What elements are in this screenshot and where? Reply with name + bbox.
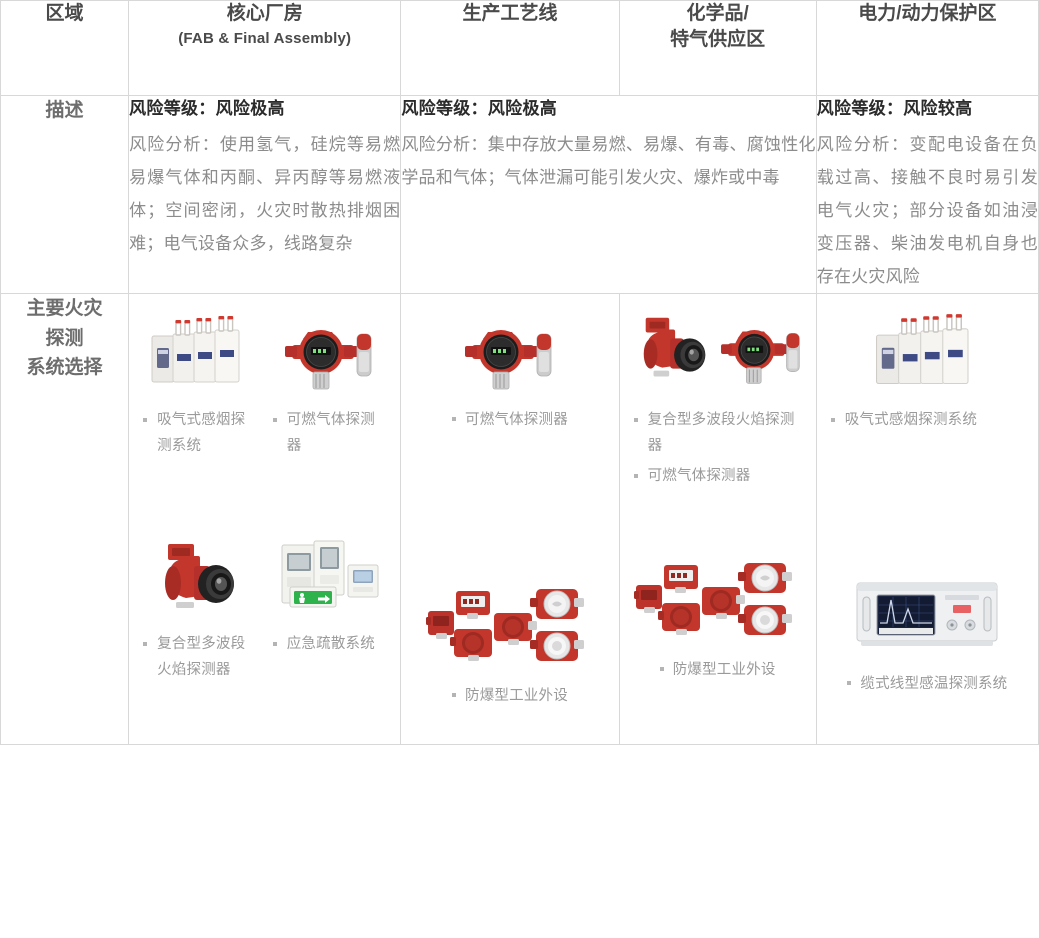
list-item: 可燃气体探测器: [271, 408, 389, 459]
aspirating-smoke-detection-icon: [141, 310, 259, 396]
row-label-description: 描述: [1, 96, 129, 294]
column-header-chemical-label-line1: 化学品/: [620, 1, 816, 27]
list-item: 复合型多波段火焰探测器: [141, 632, 259, 683]
aspirating-smoke-detection-icon: [829, 310, 1026, 396]
table-row-description: 描述 风险等级：风险极高 风险分析：使用氢气，硅烷等易燃易爆气体和丙酮、异丙醇等…: [1, 96, 1039, 294]
column-header-production-line-label: 生产工艺线: [462, 3, 557, 24]
column-header-core-fab: 核心厂房 (FAB & Final Assembly): [129, 1, 401, 96]
product-label-list: 防爆型工业外设: [632, 658, 804, 683]
risk-level-core: 风险等级：风险极高: [129, 96, 400, 122]
product-block-explosion-proof-line: 防爆型工业外设: [407, 568, 612, 714]
emergency-evacuation-system-icon: [271, 534, 389, 620]
table-body: 描述 风险等级：风险极高 风险分析：使用氢气，硅烷等易燃易爆气体和丙酮、异丙醇等…: [1, 96, 1039, 745]
column-header-area: 区域: [1, 1, 129, 96]
risk-level-line-chem: 风险等级：风险极高: [401, 96, 815, 122]
risk-analysis-power: 风险分析：变配电设备在负载过高、接触不良时易引发电气火灾；部分设备如油浸变压器、…: [817, 128, 1038, 294]
column-header-core-label: 核心厂房: [129, 1, 400, 27]
product-label-list: 防爆型工业外设: [413, 684, 606, 709]
product-label-list: 吸气式感烟探测系统: [829, 408, 1026, 433]
product-label-list: 复合型多波段火焰探测器: [141, 632, 259, 683]
product-block-aspirating-smoke-power: 吸气式感烟探测系统: [823, 302, 1032, 526]
list-item: 复合型多波段火焰探测器: [632, 408, 804, 459]
column-header-production-line: 生产工艺线: [401, 1, 619, 96]
product-block-evacuation-core: 应急疏散系统: [265, 526, 395, 716]
product-label-list: 应急疏散系统: [271, 632, 389, 657]
list-item: 应急疏散系统: [271, 632, 389, 657]
risk-analysis-core: 风险分析：使用氢气，硅烷等易燃易爆气体和丙酮、异丙醇等易燃液体；空间密闭，火灾时…: [129, 128, 400, 261]
table-row-detection-systems: 主要火灾 探测 系统选择: [1, 294, 1039, 745]
list-item: 防爆型工业外设: [413, 684, 606, 709]
risk-analysis-line-chem: 风险分析：集中存放大量易燃、易爆、有毒、腐蚀性化学品和气体；气体泄漏可能引发火灾…: [401, 128, 815, 194]
risk-level-power: 风险等级：风险较高: [817, 96, 1038, 122]
product-block-explosion-proof-chem: 防爆型工业外设: [626, 542, 810, 688]
product-label-list: 复合型多波段火焰探测器 可燃气体探测器: [632, 408, 804, 489]
systems-cell-power: 吸气式感烟探测系统: [816, 294, 1038, 745]
product-label-list: 可燃气体探测器: [413, 408, 606, 433]
combustible-gas-detector-icon: [271, 310, 389, 396]
row-label-description-text: 描述: [46, 100, 84, 121]
row-label-systems-line1: 主要火灾: [1, 294, 128, 323]
list-item: 吸气式感烟探测系统: [141, 408, 259, 459]
multiband-flame-detector-icon: [141, 534, 259, 620]
row-label-detection-systems: 主要火灾 探测 系统选择: [1, 294, 129, 745]
row-label-systems-line2: 探测: [1, 324, 128, 353]
column-header-power-label: 电力/动力保护区: [858, 3, 996, 24]
product-block-flame-gas-chem: 复合型多波段火焰探测器 可燃气体探测器: [626, 302, 810, 526]
column-header-area-label: 区域: [46, 3, 84, 24]
product-block-gas-detector-line: 可燃气体探测器: [407, 302, 612, 526]
product-label-list: 吸气式感烟探测系统: [141, 408, 259, 459]
table-header: 区域 核心厂房 (FAB & Final Assembly) 生产工艺线 化学品…: [1, 1, 1039, 96]
combustible-gas-detector-icon: [413, 310, 606, 396]
list-item: 防爆型工业外设: [632, 658, 804, 683]
column-header-chemical-label-line2: 特气供应区: [620, 27, 816, 53]
product-block-aspirating-smoke-core: 吸气式感烟探测系统: [135, 302, 265, 526]
product-label-list: 可燃气体探测器: [271, 408, 389, 459]
area-risk-detection-table: 区域 核心厂房 (FAB & Final Assembly) 生产工艺线 化学品…: [0, 0, 1039, 745]
list-item: 缆式线型感温探测系统: [829, 672, 1026, 697]
product-block-linear-heat-power: 缆式线型感温探测系统: [823, 556, 1032, 702]
column-header-chemical-gas: 化学品/ 特气供应区: [619, 1, 816, 96]
systems-cell-chemical-gas: 复合型多波段火焰探测器 可燃气体探测器: [619, 294, 816, 745]
list-item: 可燃气体探测器: [413, 408, 606, 433]
list-item: 可燃气体探测器: [632, 464, 804, 489]
column-header-power-protection: 电力/动力保护区: [816, 1, 1038, 96]
explosion-proof-peripherals-icon: [413, 576, 606, 672]
explosion-proof-peripherals-icon: [632, 550, 804, 646]
systems-cell-production-line: 可燃气体探测器: [401, 294, 619, 745]
linear-heat-detection-controller-icon: [829, 564, 1026, 660]
product-block-gas-detector-core: 可燃气体探测器: [265, 302, 395, 526]
list-item: 吸气式感烟探测系统: [829, 408, 1026, 433]
column-header-core-sublabel: (FAB & Final Assembly): [129, 29, 400, 49]
header-row: 区域 核心厂房 (FAB & Final Assembly) 生产工艺线 化学品…: [1, 1, 1039, 96]
description-cell-line-and-chemical: 风险等级：风险极高 风险分析：集中存放大量易燃、易爆、有毒、腐蚀性化学品和气体；…: [401, 96, 816, 294]
product-block-flame-detector-core: 复合型多波段火焰探测器: [135, 526, 265, 716]
flame-and-gas-detector-pair-icon: [632, 310, 804, 396]
row-label-systems-line3: 系统选择: [1, 353, 128, 382]
systems-cell-core: 吸气式感烟探测系统: [129, 294, 401, 745]
description-cell-core: 风险等级：风险极高 风险分析：使用氢气，硅烷等易燃易爆气体和丙酮、异丙醇等易燃液…: [129, 96, 401, 294]
product-label-list: 缆式线型感温探测系统: [829, 672, 1026, 697]
fire-detection-matrix-sheet: 区域 核心厂房 (FAB & Final Assembly) 生产工艺线 化学品…: [0, 0, 1039, 938]
description-cell-power: 风险等级：风险较高 风险分析：变配电设备在负载过高、接触不良时易引发电气火灾；部…: [816, 96, 1038, 294]
